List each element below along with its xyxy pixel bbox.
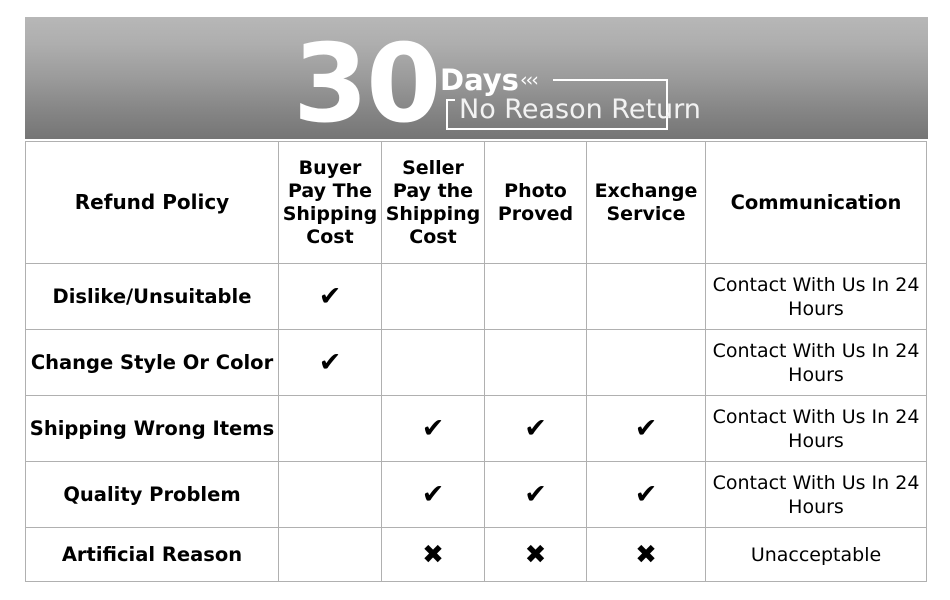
cell-seller-pay-1 — [382, 330, 485, 396]
check-icon: ✔ — [422, 479, 445, 510]
banner-rule-bottom — [446, 128, 668, 130]
cell-photo-proved-4: ✖ — [485, 528, 587, 582]
column-header-communication: Communication — [706, 142, 927, 264]
cross-icon: ✖ — [422, 540, 444, 570]
table-row: Shipping Wrong Items ✔ ✔ ✔ Contact With … — [26, 396, 927, 462]
table-head: Refund Policy Buyer Pay The Shipping Cos… — [26, 142, 927, 264]
cross-icon: ✖ — [525, 540, 547, 570]
cell-exchange-service-4: ✖ — [587, 528, 706, 582]
row-label-change-style-or-color: Change Style Or Color — [26, 330, 279, 396]
row-label-dislike-unsuitable: Dislike/Unsuitable — [26, 264, 279, 330]
banner-subtitle: No Reason Return — [459, 93, 701, 127]
cell-photo-proved-0 — [485, 264, 587, 330]
chevron-left-triple-icon: ‹‹‹ — [520, 69, 537, 91]
column-header-buyer-pay-shipping: Buyer Pay The Shipping Cost — [279, 142, 382, 264]
promo-banner: 30 Days ‹‹‹ No Reason Return — [25, 17, 928, 139]
cell-exchange-service-1 — [587, 330, 706, 396]
cell-photo-proved-2: ✔ — [485, 396, 587, 462]
check-icon: ✔ — [635, 479, 658, 510]
policy-table-container: Refund Policy Buyer Pay The Shipping Cos… — [25, 141, 926, 575]
cell-communication-2: Contact With Us In 24 Hours — [706, 396, 927, 462]
cell-communication-0: Contact With Us In 24 Hours — [706, 264, 927, 330]
promo-banner-content: 30 Days ‹‹‹ No Reason Return — [25, 17, 928, 139]
check-icon: ✔ — [524, 479, 547, 510]
cell-communication-4: Unacceptable — [706, 528, 927, 582]
table-header-row: Refund Policy Buyer Pay The Shipping Cos… — [26, 142, 927, 264]
cell-buyer-pay-4 — [279, 528, 382, 582]
table-row: Artificial Reason ✖ ✖ ✖ Unacceptable — [26, 528, 927, 582]
days-label: Days — [440, 63, 519, 97]
cell-buyer-pay-0: ✔ — [279, 264, 382, 330]
table-row: Change Style Or Color ✔ Contact With Us … — [26, 330, 927, 396]
cell-seller-pay-3: ✔ — [382, 462, 485, 528]
table-body: Dislike/Unsuitable ✔ Contact With Us In … — [26, 264, 927, 582]
cell-exchange-service-0 — [587, 264, 706, 330]
banner-rule-top — [553, 79, 668, 81]
row-label-shipping-wrong-items: Shipping Wrong Items — [26, 396, 279, 462]
cell-exchange-service-3: ✔ — [587, 462, 706, 528]
check-icon: ✔ — [319, 347, 342, 378]
cell-communication-1: Contact With Us In 24 Hours — [706, 330, 927, 396]
table-row: Quality Problem ✔ ✔ ✔ Contact With Us In… — [26, 462, 927, 528]
cell-buyer-pay-1: ✔ — [279, 330, 382, 396]
column-header-refund-policy: Refund Policy — [26, 142, 279, 264]
row-label-artificial-reason: Artificial Reason — [26, 528, 279, 582]
column-header-seller-pay-shipping: Seller Pay the Shipping Cost — [382, 142, 485, 264]
cell-seller-pay-4: ✖ — [382, 528, 485, 582]
cell-buyer-pay-3 — [279, 462, 382, 528]
cell-communication-3: Contact With Us In 24 Hours — [706, 462, 927, 528]
banner-rule-left-tick — [446, 99, 455, 101]
cell-buyer-pay-2 — [279, 396, 382, 462]
column-header-exchange-service: Exchange Service — [587, 142, 706, 264]
cell-photo-proved-3: ✔ — [485, 462, 587, 528]
check-icon: ✔ — [319, 281, 342, 312]
cross-icon: ✖ — [635, 540, 657, 570]
check-icon: ✔ — [524, 413, 547, 444]
table-row: Dislike/Unsuitable ✔ Contact With Us In … — [26, 264, 927, 330]
cell-exchange-service-2: ✔ — [587, 396, 706, 462]
cell-photo-proved-1 — [485, 330, 587, 396]
check-icon: ✔ — [422, 413, 445, 444]
days-count: 30 — [293, 24, 439, 139]
row-label-quality-problem: Quality Problem — [26, 462, 279, 528]
column-header-photo-proved: Photo Proved — [485, 142, 587, 264]
cell-seller-pay-2: ✔ — [382, 396, 485, 462]
check-icon: ✔ — [635, 413, 658, 444]
cell-seller-pay-0 — [382, 264, 485, 330]
banner-rule-left — [446, 99, 448, 130]
refund-policy-table: Refund Policy Buyer Pay The Shipping Cos… — [25, 141, 927, 582]
refund-policy-infographic: 30 Days ‹‹‹ No Reason Return Re — [0, 0, 950, 600]
